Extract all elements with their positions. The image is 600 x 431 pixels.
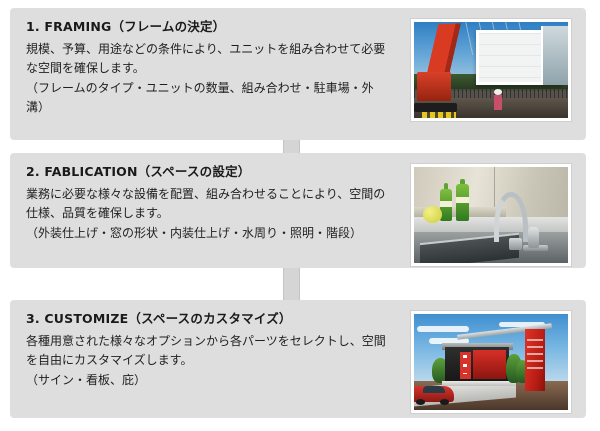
step-3-text-block: 3. CUSTOMIZE（スペースのカスタマイズ） 各種用意された様々なオプショ… bbox=[26, 311, 406, 390]
step-connector-1-to-2 bbox=[283, 140, 300, 153]
photo3-cloud-a bbox=[417, 326, 469, 333]
step-2-description: 業務に必要な様々な設備を配置、組み合わせることにより、空間の 仕様、品質を確保し… bbox=[26, 185, 406, 243]
step-2-line-2: 仕様、品質を確保します。 bbox=[26, 204, 406, 223]
step-2-line-3: （外装仕上げ・窓の形状・内装仕上げ・水周り・照明・階段） bbox=[26, 224, 406, 243]
photo2-faucet-base bbox=[509, 238, 521, 250]
step-2-thumbnail bbox=[410, 163, 572, 267]
step-2-text-block: 2. FABLICATION（スペースの設定） 業務に必要な様々な設備を配置、組… bbox=[26, 164, 406, 243]
step-1-line-4: 溝） bbox=[26, 98, 406, 117]
process-step-2: 2. FABLICATION（スペースの設定） 業務に必要な様々な設備を配置、組… bbox=[10, 153, 586, 268]
step-1-text-block: 1. FRAMING（フレームの決定） 規模、予算、用途などの条件により、ユニッ… bbox=[26, 19, 406, 118]
step-connector-2-to-3 bbox=[283, 268, 300, 300]
step-2-title: 2. FABLICATION（スペースの設定） bbox=[26, 164, 406, 181]
step-3-title: 3. CUSTOMIZE（スペースのカスタマイズ） bbox=[26, 311, 406, 328]
photo2-lemon bbox=[423, 206, 441, 222]
step-2-line-1: 業務に必要な様々な設備を配置、組み合わせることにより、空間の bbox=[26, 185, 406, 204]
photo3-car-window bbox=[423, 386, 445, 393]
photo3-door-detail bbox=[463, 355, 468, 374]
kitchen-sink-photo bbox=[414, 167, 568, 263]
photo1-barrier bbox=[422, 112, 456, 118]
photo2-bottle-b-label bbox=[456, 197, 470, 204]
process-step-1: 1. FRAMING（フレームの決定） 規模、予算、用途などの条件により、ユニッ… bbox=[10, 8, 586, 140]
photo1-crane-track bbox=[414, 103, 457, 113]
photo2-bottle-a-label bbox=[440, 201, 452, 208]
step-3-description: 各種用意された様々なオプションから各パーツをセレクトし、空間 を自由にカスタマイ… bbox=[26, 332, 406, 390]
step-1-line-2: な空間を確保します。 bbox=[26, 59, 406, 78]
step-1-thumbnail bbox=[410, 18, 572, 122]
step-3-line-1: 各種用意された様々なオプションから各パーツをセレクトし、空間 bbox=[26, 332, 406, 351]
step-1-line-1: 規模、予算、用途などの条件により、ユニットを組み合わせて必要 bbox=[26, 40, 406, 59]
process-flow-diagram: 1. FRAMING（フレームの決定） 規模、予算、用途などの条件により、ユニッ… bbox=[0, 0, 600, 431]
step-3-thumbnail bbox=[410, 310, 572, 414]
step-1-title: 1. FRAMING（フレームの決定） bbox=[26, 19, 406, 36]
photo3-car-wheel-front bbox=[416, 399, 425, 405]
photo1-crane-body bbox=[417, 72, 451, 101]
crane-lifting-unit-photo bbox=[414, 22, 568, 118]
step-3-line-3: （サイン・看板、庇） bbox=[26, 371, 406, 390]
process-step-3: 3. CUSTOMIZE（スペースのカスタマイズ） 各種用意された様々なオプショ… bbox=[10, 300, 586, 418]
photo1-worker-body bbox=[494, 95, 502, 110]
photo3-deck bbox=[442, 381, 516, 386]
step-1-line-3: （フレームのタイプ・ユニットの数量、組み合わせ・駐車場・外 bbox=[26, 79, 406, 98]
architectural-rendering-photo bbox=[414, 314, 568, 410]
photo3-red-glass-wall bbox=[473, 350, 507, 379]
photo2-faucet-handle bbox=[528, 227, 539, 248]
photo3-sign-text bbox=[527, 339, 542, 372]
step-1-description: 規模、予算、用途などの条件により、ユニットを組み合わせて必要 な空間を確保します… bbox=[26, 40, 406, 118]
step-3-line-2: を自由にカスタマイズします。 bbox=[26, 351, 406, 370]
photo1-second-panel bbox=[541, 26, 568, 86]
